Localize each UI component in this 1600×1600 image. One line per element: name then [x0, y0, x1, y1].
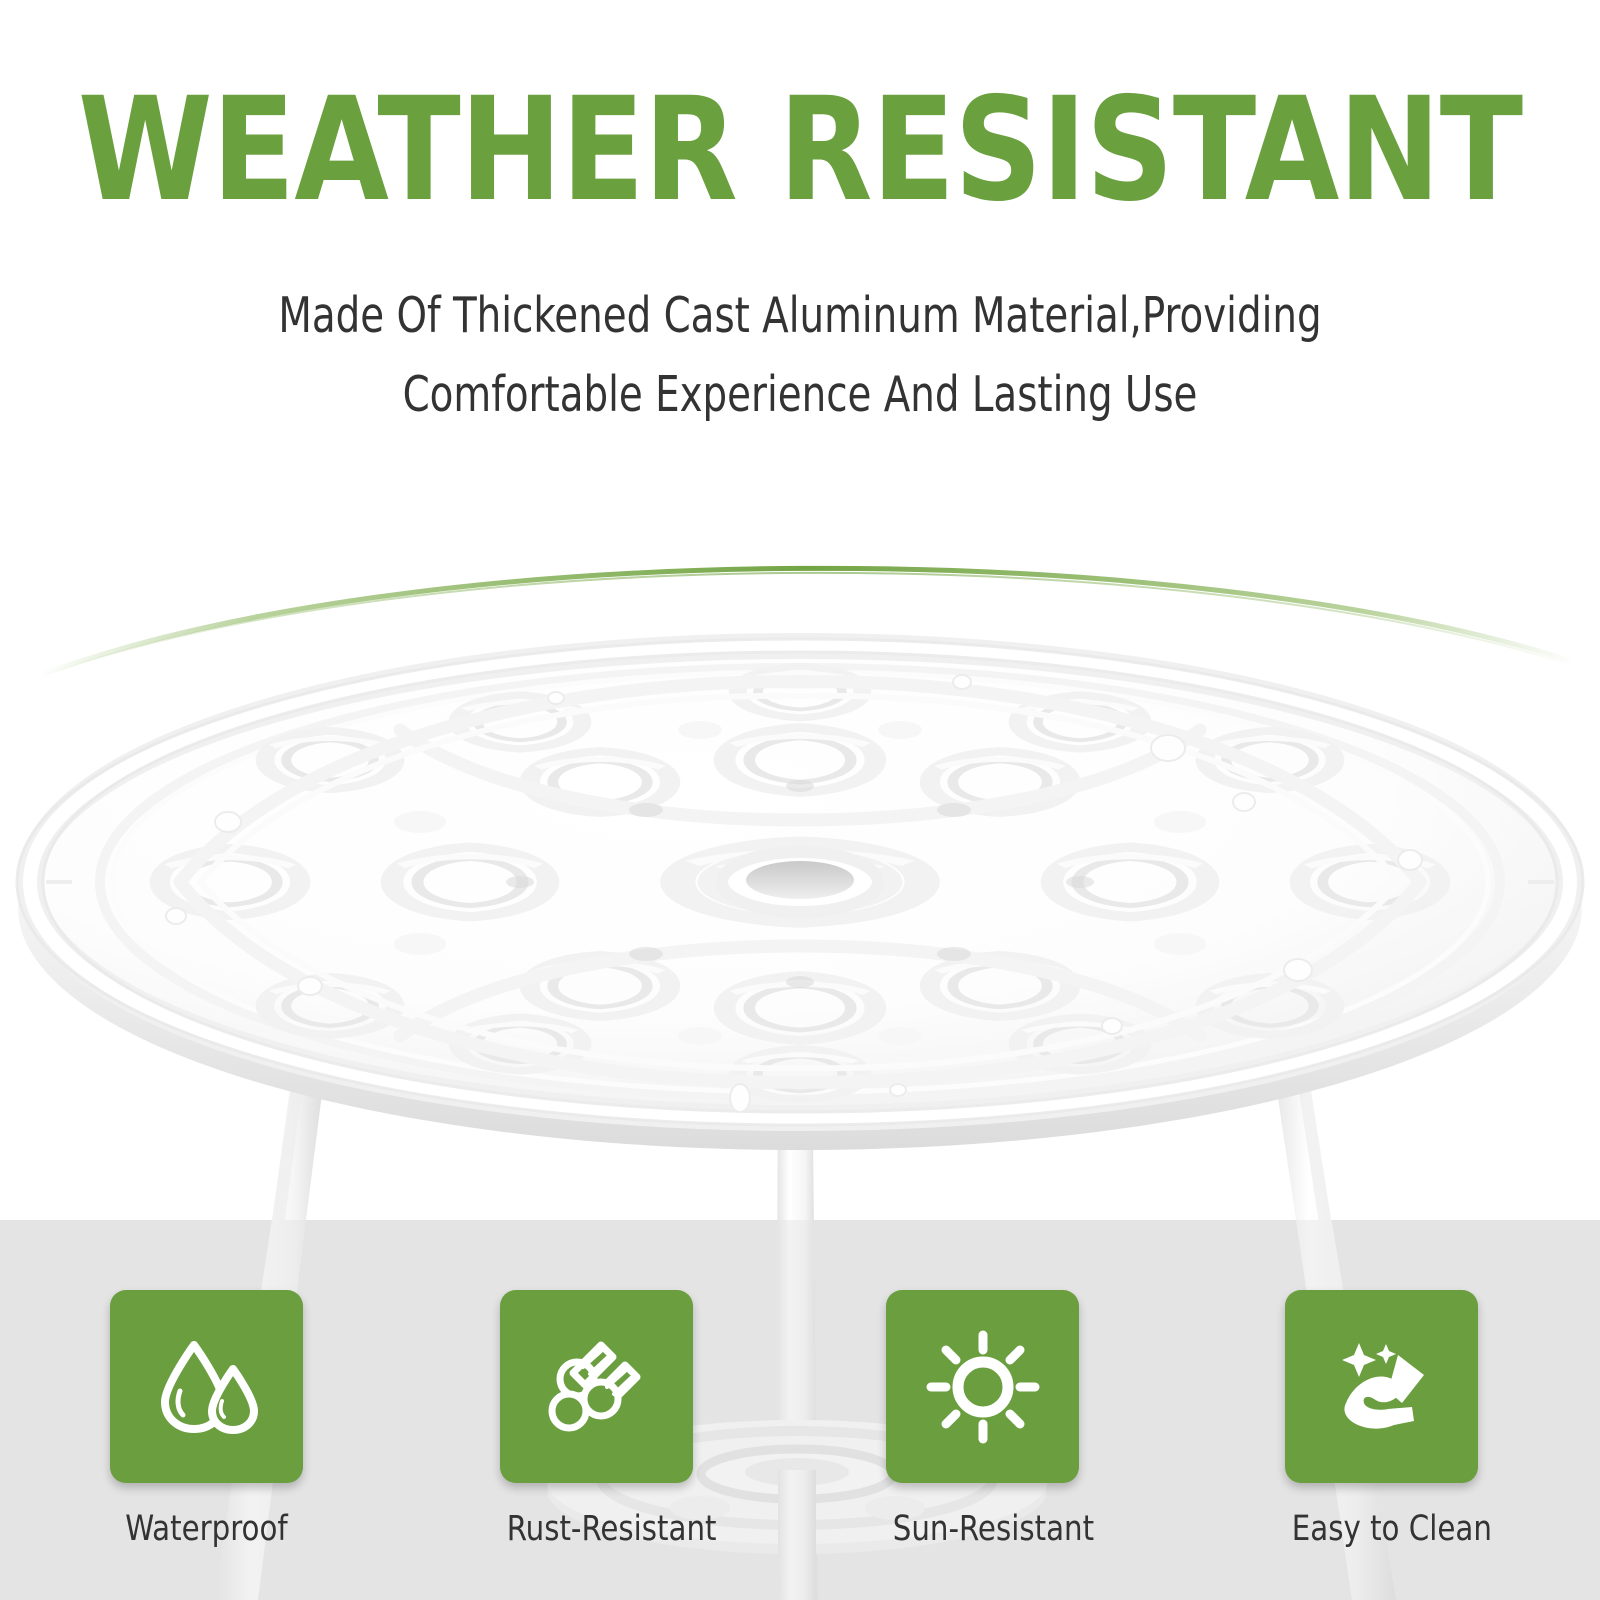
- feature-badge-rust-resistant[interactable]: Rust-Resistant: [500, 1290, 693, 1549]
- badge-label: Rust-Resistant: [507, 1509, 686, 1549]
- badge-tile: [1285, 1290, 1478, 1483]
- water-drops-icon: [149, 1329, 265, 1445]
- umbrella-hole: [722, 852, 878, 912]
- badge-label: Easy to Clean: [1292, 1509, 1471, 1549]
- feature-badge-easy-to-clean[interactable]: Easy to Clean: [1285, 1290, 1478, 1549]
- logs-stack-icon: [539, 1329, 655, 1445]
- table-top: [17, 639, 1583, 1150]
- badge-tile: [110, 1290, 303, 1483]
- feature-badges: Waterproof: [0, 1290, 1600, 1590]
- sun-icon: [925, 1329, 1041, 1445]
- feature-badge-sun-resistant[interactable]: Sun-Resistant: [886, 1290, 1079, 1549]
- badge-label: Sun-Resistant: [893, 1509, 1072, 1549]
- badge-tile: [886, 1290, 1079, 1483]
- badge-tile: [500, 1290, 693, 1483]
- hand-wipe-sparkle-icon: [1324, 1329, 1440, 1445]
- subtitle: Made Of Thickened Cast Aluminum Material…: [96, 276, 1504, 434]
- page-title: WEATHER RESISTANT: [40, 78, 1560, 221]
- subtitle-line-2: Comfortable Experience And Lasting Use: [96, 355, 1504, 434]
- marketing-image: WEATHER RESISTANT Made Of Thickened Cast…: [0, 0, 1600, 1600]
- badge-label: Waterproof: [117, 1509, 296, 1549]
- subtitle-line-1: Made Of Thickened Cast Aluminum Material…: [96, 276, 1504, 355]
- feature-badge-waterproof[interactable]: Waterproof: [110, 1290, 303, 1549]
